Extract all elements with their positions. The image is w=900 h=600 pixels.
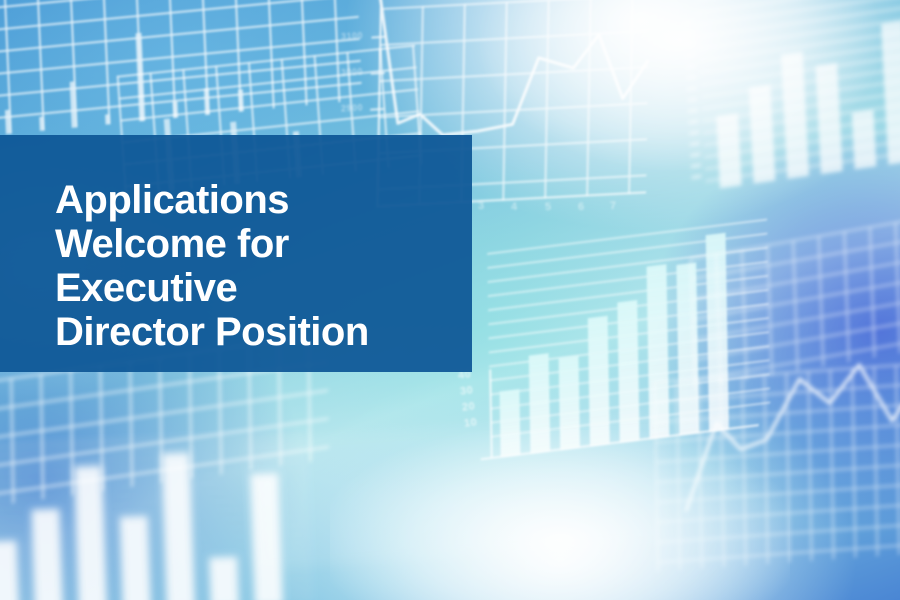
y-tick-label: 30: [459, 384, 474, 398]
y-tick-label: 20: [461, 400, 476, 414]
page-title: Applications Welcome for Executive Direc…: [55, 178, 455, 354]
bar: [0, 540, 19, 600]
glow-overlay-top: [480, 0, 880, 170]
bar: [74, 465, 107, 600]
y-tick-label: 2900: [341, 102, 364, 113]
bar: [209, 557, 239, 600]
y-tick-label: 3100: [341, 30, 364, 41]
bar: [39, 116, 45, 130]
x-tick-label: 4: [511, 201, 518, 213]
bar: [105, 114, 110, 124]
y-tick-label: 3000: [341, 66, 364, 77]
x-tick-label: 6: [578, 201, 585, 213]
bar: [5, 110, 11, 134]
promo-banner: 3100 3000 2900 3 4 5 6 7 40 30 20 10: [0, 0, 900, 600]
x-tick-label: 5: [545, 201, 552, 213]
bar: [31, 509, 63, 600]
bar: [162, 452, 195, 600]
x-tick-label: 3: [478, 200, 485, 212]
glow-overlay-bottom: [330, 430, 790, 600]
bar: [120, 516, 151, 600]
x-tick-label: 7: [610, 200, 617, 212]
